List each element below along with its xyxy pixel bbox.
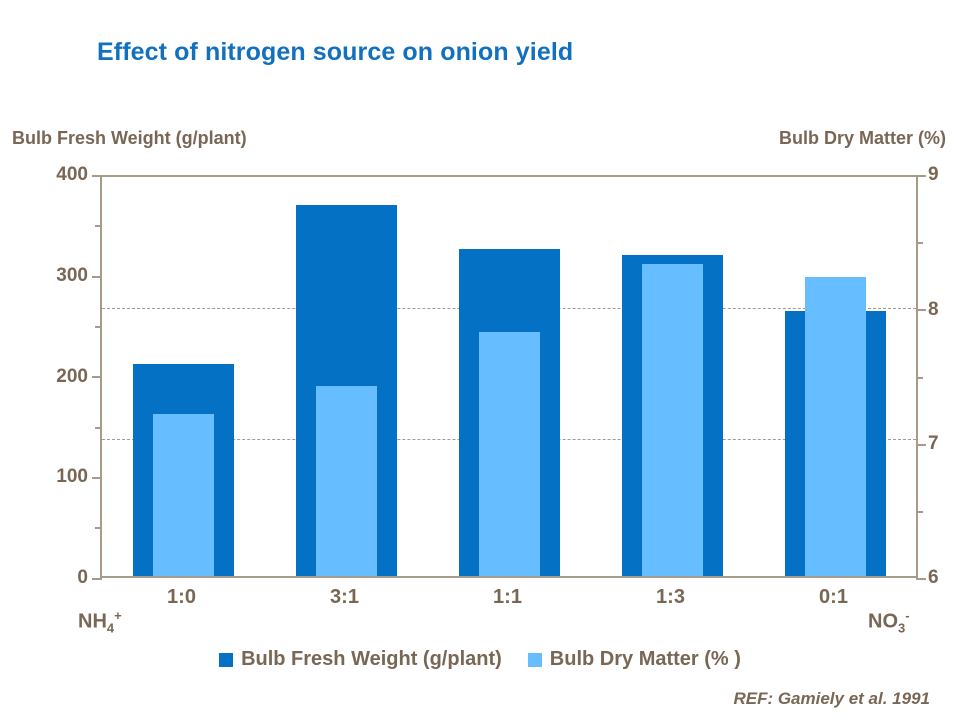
bar-dry-matter-1[interactable] (153, 414, 214, 576)
left-tick-0: 0 (77, 567, 88, 589)
bar-dry-matter-5[interactable] (805, 277, 866, 576)
category-label-4: 1:3 (589, 586, 752, 609)
category-label-1: 1:0 (100, 586, 263, 609)
legend-swatch-dry-matter-icon (528, 653, 542, 667)
legend-label-dry-matter: Bulb Dry Matter (% ) (550, 648, 741, 671)
reference-citation: REF: Gamiely et al. 1991 (733, 689, 930, 709)
left-tick-300: 300 (56, 265, 88, 287)
legend-item-fresh-weight[interactable]: Bulb Fresh Weight (g/plant) (219, 648, 502, 671)
right-tickmark-6 (916, 578, 926, 580)
x-axis-end-label: NO3- (868, 608, 910, 636)
right-tick-8: 8 (928, 299, 939, 321)
left-tick-200: 200 (56, 366, 88, 388)
legend-item-dry-matter[interactable]: Bulb Dry Matter (% ) (528, 648, 741, 671)
bar-group-2 (265, 177, 428, 576)
right-tick-7: 7 (928, 433, 939, 455)
right-tick-9: 9 (928, 164, 939, 186)
left-tickmark-0 (92, 578, 102, 580)
bar-group-3 (428, 177, 591, 576)
bar-group-5 (754, 177, 917, 576)
bar-group-1 (102, 177, 265, 576)
category-label-2: 3:1 (263, 586, 426, 609)
left-tick-100: 100 (56, 466, 88, 488)
category-label-5: 0:1 (752, 586, 915, 609)
legend: Bulb Fresh Weight (g/plant) Bulb Dry Mat… (0, 648, 960, 671)
bar-dry-matter-3[interactable] (479, 332, 540, 576)
x-axis-start-label: NH4+ (78, 608, 122, 636)
left-axis-title: Bulb Fresh Weight (g/plant) (12, 128, 247, 149)
bar-dry-matter-4[interactable] (642, 264, 703, 576)
category-label-3: 1:1 (426, 586, 589, 609)
bar-group-4 (591, 177, 754, 576)
plot-area (100, 175, 918, 578)
legend-swatch-fresh-weight-icon (219, 653, 233, 667)
bar-dry-matter-2[interactable] (316, 386, 377, 576)
right-tick-6: 6 (928, 567, 939, 589)
chart-title: Effect of nitrogen source on onion yield (97, 38, 573, 67)
right-axis-title: Bulb Dry Matter (%) (779, 128, 946, 149)
left-tick-400: 400 (56, 164, 88, 186)
legend-label-fresh-weight: Bulb Fresh Weight (g/plant) (241, 648, 502, 671)
